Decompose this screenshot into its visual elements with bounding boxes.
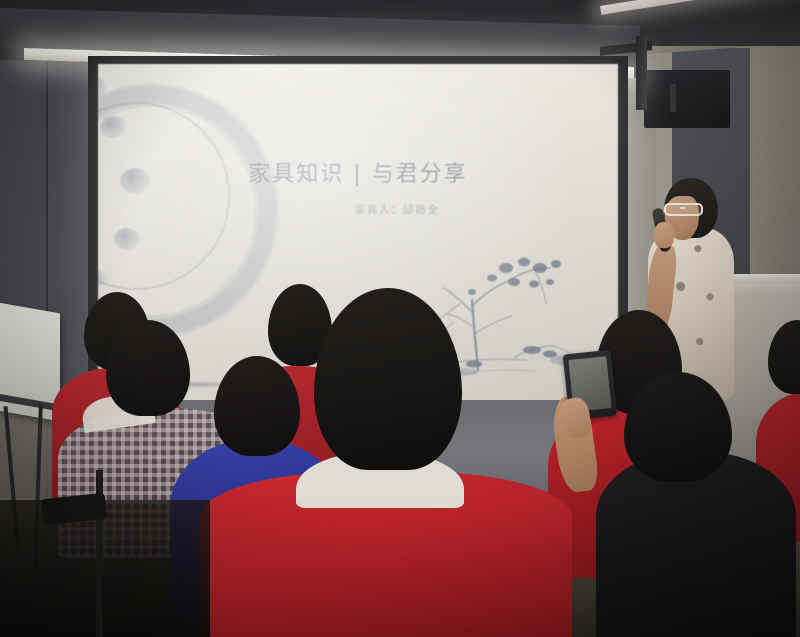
- plate-flower-motif: [98, 78, 106, 96]
- plate-flower-motif: [114, 228, 140, 250]
- wall-speaker-icon: [644, 70, 730, 128]
- slide-title: 家具知识 | 与君分享: [98, 156, 618, 188]
- photo-scene: 家具知识 | 与君分享 家具人：邱扬全: [0, 0, 800, 637]
- presenter-hand: [654, 222, 674, 248]
- ceiling-beam-drop: [636, 36, 647, 110]
- foreground-chair: [0, 500, 210, 637]
- plate-flower-motif: [100, 116, 126, 138]
- slide-subtitle: 家具人：邱扬全: [98, 202, 618, 217]
- glasses-icon: [664, 203, 703, 216]
